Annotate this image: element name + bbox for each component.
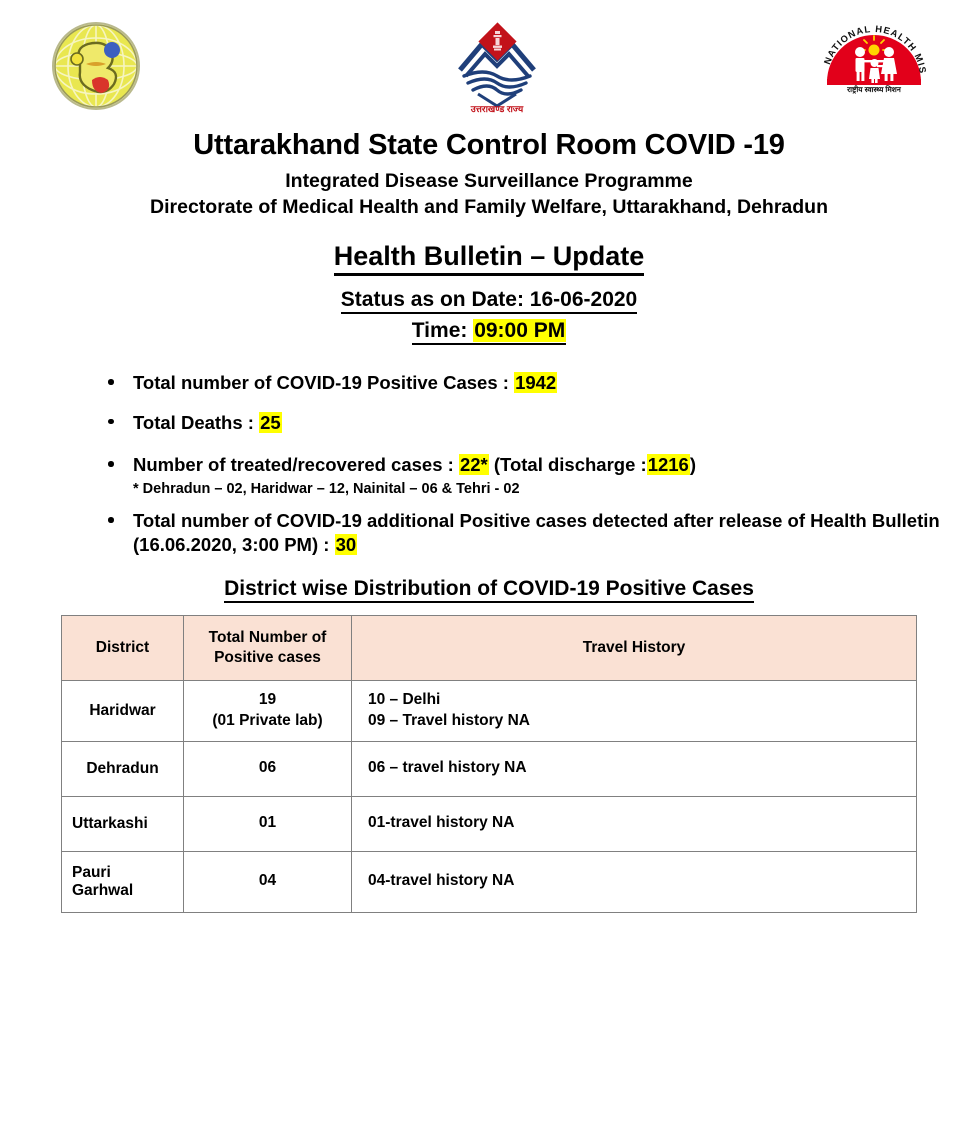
table-row: Dehradun 06 06 – travel history NA	[62, 741, 917, 796]
status-date-line: Status as on Date: 16-06-2020	[0, 288, 978, 312]
state-emblem-caption: उत्तराखण्ड राज्य	[470, 104, 524, 114]
summary-bullet-list: Total number of COVID-19 Positive Cases …	[0, 371, 978, 556]
cell-total-cases: 19 (01 Private lab)	[184, 680, 352, 741]
status-time-line: Time: 09:00 PM	[0, 319, 978, 343]
discharge-prefix: (Total discharge :	[489, 454, 647, 475]
bullet-additional-cases: Total number of COVID-19 additional Posi…	[100, 509, 948, 556]
bullet-dot-icon	[108, 461, 114, 467]
bullet-total-deaths: Total Deaths : 25	[100, 411, 948, 435]
status-time-label: Time:	[412, 319, 473, 342]
total-deaths-value: 25	[259, 412, 282, 433]
bullet-dot-icon	[108, 419, 114, 425]
district-table-title: District wise Distribution of COVID-19 P…	[0, 577, 978, 601]
national-health-mission-icon: NATIONAL HEALTH MISSION राष्ट्रीय स्वास्…	[818, 16, 930, 114]
idsp-globe-icon	[50, 20, 142, 112]
cell-travel-history: 04-travel history NA	[352, 851, 917, 912]
district-table-title-text: District wise Distribution of COVID-19 P…	[224, 577, 754, 603]
cell-district: Haridwar	[62, 680, 184, 741]
bullet-total-cases: Total number of COVID-19 Positive Cases …	[100, 371, 948, 395]
total-deaths-label: Total Deaths :	[133, 412, 259, 433]
table-row: Haridwar 19 (01 Private lab) 10 – Delhi …	[62, 680, 917, 741]
cell-total-cases: 04	[184, 851, 352, 912]
column-header-district: District	[62, 615, 184, 680]
table-header-row: District Total Number of Positive cases …	[62, 615, 917, 680]
nhm-hindi-caption: राष्ट्रीय स्वास्थ्य मिशन	[846, 85, 902, 94]
recovered-footnote: * Dehradun – 02, Haridwar – 12, Nainital…	[133, 480, 948, 498]
bullet-dot-icon	[108, 379, 114, 385]
status-time-wrapper: Time: 09:00 PM	[412, 319, 567, 345]
recovered-label: Number of treated/recovered cases :	[133, 454, 459, 475]
district-distribution-table: District Total Number of Positive cases …	[61, 615, 917, 913]
column-header-total-cases: Total Number of Positive cases	[184, 615, 352, 680]
page-title: Uttarakhand State Control Room COVID -19	[0, 129, 978, 162]
total-cases-label: Total number of COVID-19 Positive Cases …	[133, 372, 514, 393]
table-row: Pauri Garhwal 04 04-travel history NA	[62, 851, 917, 912]
recovered-value: 22*	[459, 454, 489, 475]
page-subtitle-directorate: Directorate of Medical Health and Family…	[0, 196, 978, 219]
logo-band: उत्तराखण्ड राज्य	[0, 0, 978, 118]
cell-travel-history: 10 – Delhi 09 – Travel history NA	[352, 680, 917, 741]
total-cases-value: 1942	[514, 372, 557, 393]
discharge-value: 1216	[647, 454, 690, 475]
bullet-recovered-cases: Number of treated/recovered cases : 22* …	[100, 453, 948, 498]
cell-district: Uttarkashi	[62, 796, 184, 851]
cell-total-cases: 01	[184, 796, 352, 851]
bullet-dot-icon	[108, 517, 114, 523]
table-row: Uttarkashi 01 01-travel history NA	[62, 796, 917, 851]
uttarakhand-state-emblem-icon: उत्तराखण्ड राज्य	[438, 14, 556, 114]
cell-district: Dehradun	[62, 741, 184, 796]
bulletin-title-text: Health Bulletin – Update	[334, 241, 645, 276]
status-date-text: Status as on Date: 16-06-2020	[341, 288, 637, 314]
additional-cases-value: 30	[335, 534, 358, 555]
cell-travel-history: 01-travel history NA	[352, 796, 917, 851]
bulletin-title: Health Bulletin – Update	[0, 241, 978, 272]
discharge-suffix: )	[690, 454, 696, 475]
column-header-travel-history: Travel History	[352, 615, 917, 680]
additional-cases-label: Total number of COVID-19 additional Posi…	[133, 510, 940, 555]
cell-total-cases: 06	[184, 741, 352, 796]
cell-district: Pauri Garhwal	[62, 851, 184, 912]
cell-travel-history: 06 – travel history NA	[352, 741, 917, 796]
status-time-value: 09:00 PM	[473, 319, 566, 342]
page-subtitle-programme: Integrated Disease Surveillance Programm…	[0, 170, 978, 193]
